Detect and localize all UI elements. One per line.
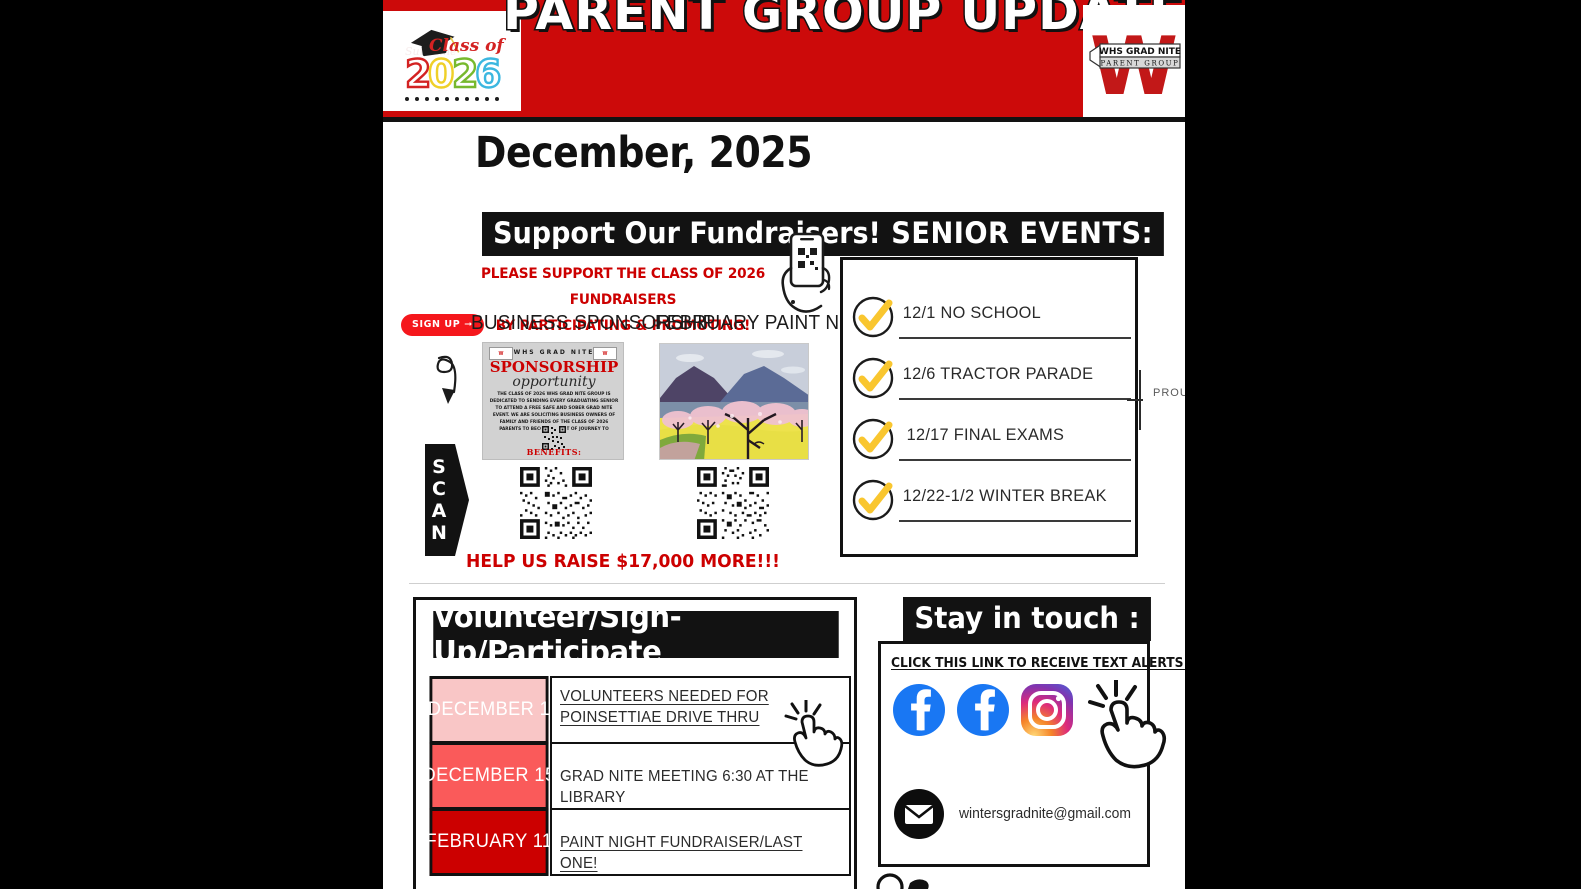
- svg-text:PARENT GROUP: PARENT GROUP: [1101, 60, 1180, 68]
- pointer-hand-cursor-icon: [1082, 680, 1168, 776]
- hand-holding-phone-qr-icon: [771, 228, 833, 320]
- scan-letter-a: A: [432, 500, 447, 522]
- pointer-hand-cursor-icon: [780, 700, 846, 772]
- help-us-raise-text: HELP US RAISE $17,000 MORE!!!: [452, 551, 794, 572]
- sponsorship-qr-code[interactable]: [520, 467, 592, 539]
- social-icons-row: [891, 682, 1075, 738]
- newsletter-page: Sunshine 2 0 2 6 Class of: [383, 0, 1185, 889]
- senior-event-underline: [899, 398, 1131, 400]
- scan-letter-n: N: [431, 522, 447, 544]
- bottom-cutoff-icons: [876, 861, 932, 889]
- check-circle-icon: [849, 293, 897, 341]
- senior-event-label: 12/1 NO SCHOOL: [897, 303, 1041, 323]
- check-circle-icon: [849, 415, 897, 463]
- scan-letter-s: S: [432, 456, 446, 478]
- flyer-kicker: WHS GRAD NITE: [483, 349, 624, 356]
- table-cell-date: FEBRUARY 11: [429, 808, 548, 876]
- senior-event-label-wrap: 12/1 NO SCHOOL: [897, 286, 1125, 347]
- fundraiser-column-title-paint-nite: FEBRUARY PAINT NITE: [655, 312, 869, 335]
- screenshot-root: Sunshine 2 0 2 6 Class of: [0, 0, 1581, 889]
- scan-letter-c: C: [432, 478, 446, 500]
- whs-grad-nite-logo-art: W WHS GRAD NITE PARENT GROUP: [1084, 6, 1184, 116]
- flyer-benefits-label: BENEFITS:: [483, 447, 624, 457]
- facebook-icon[interactable]: [955, 682, 1011, 738]
- month-heading: December, 2025: [475, 128, 812, 178]
- senior-event-label-wrap: 12/6 TRACTOR PARADE: [897, 347, 1125, 408]
- senior-events-box: 12/1 NO SCHOOL 12/6 TRACTOR PARADE: [840, 257, 1138, 557]
- instagram-icon[interactable]: [1019, 682, 1075, 738]
- table-cell-date: DECEMBER 15: [429, 742, 548, 810]
- senior-event-underline: [899, 520, 1131, 522]
- table-cell-description-text: PAINT NIGHT FUNDRAISER/LAST ONE!: [560, 832, 831, 874]
- senior-event-underline: [899, 337, 1131, 339]
- svg-text:Class of: Class of: [429, 36, 506, 56]
- proud-side-note: PROUD: [1153, 387, 1185, 399]
- senior-event-label-wrap: 12/22-1/2 WINTER BREAK: [897, 469, 1125, 530]
- proud-tick: [1127, 399, 1143, 401]
- svg-text:0: 0: [428, 52, 454, 96]
- paint-nite-artwork: [660, 344, 809, 460]
- senior-event-underline: [899, 459, 1131, 461]
- senior-event-row[interactable]: 12/17 FINAL EXAMS: [843, 408, 1135, 469]
- curly-arrow-icon: [431, 352, 465, 404]
- senior-events-chip: SENIOR EVENTS:: [880, 212, 1164, 256]
- svg-text:6: 6: [475, 52, 501, 96]
- senior-event-row[interactable]: 12/22-1/2 WINTER BREAK: [843, 469, 1135, 530]
- senior-event-label: 12/22-1/2 WINTER BREAK: [897, 486, 1107, 506]
- sponsorship-flyer-image[interactable]: W W WHS GRAD NITE SPONSORSHIP opportunit…: [482, 342, 624, 460]
- senior-event-label-wrap: 12/17 FINAL EXAMS: [897, 408, 1125, 469]
- email-row[interactable]: wintersgradnite@gmail.com: [893, 788, 1138, 840]
- page-title: PARENT GROUP UPDATE: [503, 0, 1073, 44]
- check-circle-icon: [849, 354, 897, 402]
- scan-banner-label: S C A N: [427, 452, 451, 548]
- sign-up-button-label: SIGN UP: [412, 319, 460, 330]
- email-address: wintersgradnite@gmail.com: [959, 806, 1131, 822]
- senior-event-label: 12/6 TRACTOR PARADE: [897, 364, 1093, 384]
- email-icon[interactable]: [893, 788, 945, 840]
- flyer-subtitle: opportunity: [483, 374, 624, 390]
- volunteer-chip: Volunteer/Sign-Up/Participate: [433, 611, 838, 658]
- paint-nite-qr-code[interactable]: [697, 467, 769, 539]
- svg-text:WHS GRAD NITE: WHS GRAD NITE: [1099, 47, 1181, 57]
- paint-nite-image[interactable]: [659, 343, 809, 460]
- senior-event-row[interactable]: 12/1 NO SCHOOL: [843, 286, 1135, 347]
- header-underline: [383, 117, 1185, 122]
- facebook-icon[interactable]: [891, 682, 947, 738]
- table-cell-date: DECEMBER 1: [429, 676, 548, 744]
- table-row[interactable]: FEBRUARY 11 PAINT NIGHT FUNDRAISER/LAST …: [427, 808, 851, 876]
- senior-event-row[interactable]: 12/6 TRACTOR PARADE: [843, 347, 1135, 408]
- check-circle-icon: [849, 476, 897, 524]
- class-of-2026-logo-art: Sunshine 2 0 2 6 Class of: [387, 15, 517, 107]
- table-cell-description[interactable]: PAINT NIGHT FUNDRAISER/LAST ONE!: [550, 808, 851, 876]
- stay-in-touch-chip: Stay in touch :: [903, 597, 1151, 641]
- table-cell-description-text: GRAD NITE MEETING 6:30 AT THE LIBRARY: [560, 766, 831, 808]
- text-alerts-link[interactable]: CLICK THIS LINK TO RECEIVE TEXT ALERTS!: [891, 656, 1125, 671]
- fundraiser-callout-line-1: PLEASE SUPPORT THE CLASS OF 2026 FUNDRAI…: [454, 261, 792, 313]
- class-of-2026-logo: Sunshine 2 0 2 6 Class of: [383, 11, 521, 111]
- whs-grad-nite-logo: W WHS GRAD NITE PARENT GROUP: [1083, 5, 1185, 117]
- senior-event-label: 12/17 FINAL EXAMS: [897, 425, 1064, 445]
- section-divider: [409, 583, 1165, 584]
